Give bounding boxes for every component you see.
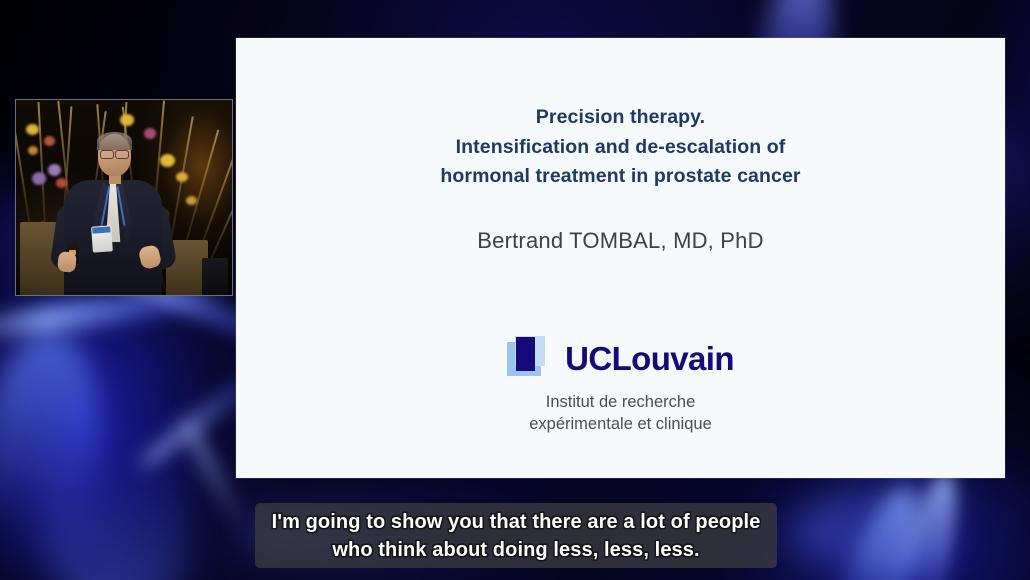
logo-subtitle-line: Institut de recherche <box>529 391 712 413</box>
slide-title-line: Precision therapy. <box>236 103 1005 133</box>
uclouvain-mark-icon <box>507 336 551 380</box>
slide-title-line: Intensification and de-escalation of <box>236 133 1005 163</box>
logo-square-dark <box>516 337 535 371</box>
caption-line: who think about doing less, less, less. <box>332 536 699 564</box>
uclouvain-logo: UCLouvain Institut de recherche expérime… <box>236 336 1005 435</box>
video-vignette <box>16 100 232 295</box>
logo-subtitle-line: expérimentale et clinique <box>529 413 712 435</box>
slide-title: Precision therapy. Intensification and d… <box>236 103 1005 192</box>
caption-overlay: I'm going to show you that there are a l… <box>255 503 777 568</box>
slide-title-line: hormonal treatment in prostate cancer <box>236 162 1005 192</box>
speaker-video-thumbnail[interactable] <box>15 99 233 296</box>
logo-row: UCLouvain <box>507 336 734 380</box>
uclouvain-wordmark: UCLouvain <box>565 342 734 375</box>
logo-subtitle: Institut de recherche expérimentale et c… <box>529 391 712 435</box>
caption-line: I'm going to show you that there are a l… <box>272 508 761 536</box>
video-player-stage: Precision therapy. Intensification and d… <box>0 0 1030 580</box>
slide-author: Bertrand TOMBAL, MD, PhD <box>236 228 1005 254</box>
presentation-slide[interactable]: Precision therapy. Intensification and d… <box>236 38 1005 478</box>
